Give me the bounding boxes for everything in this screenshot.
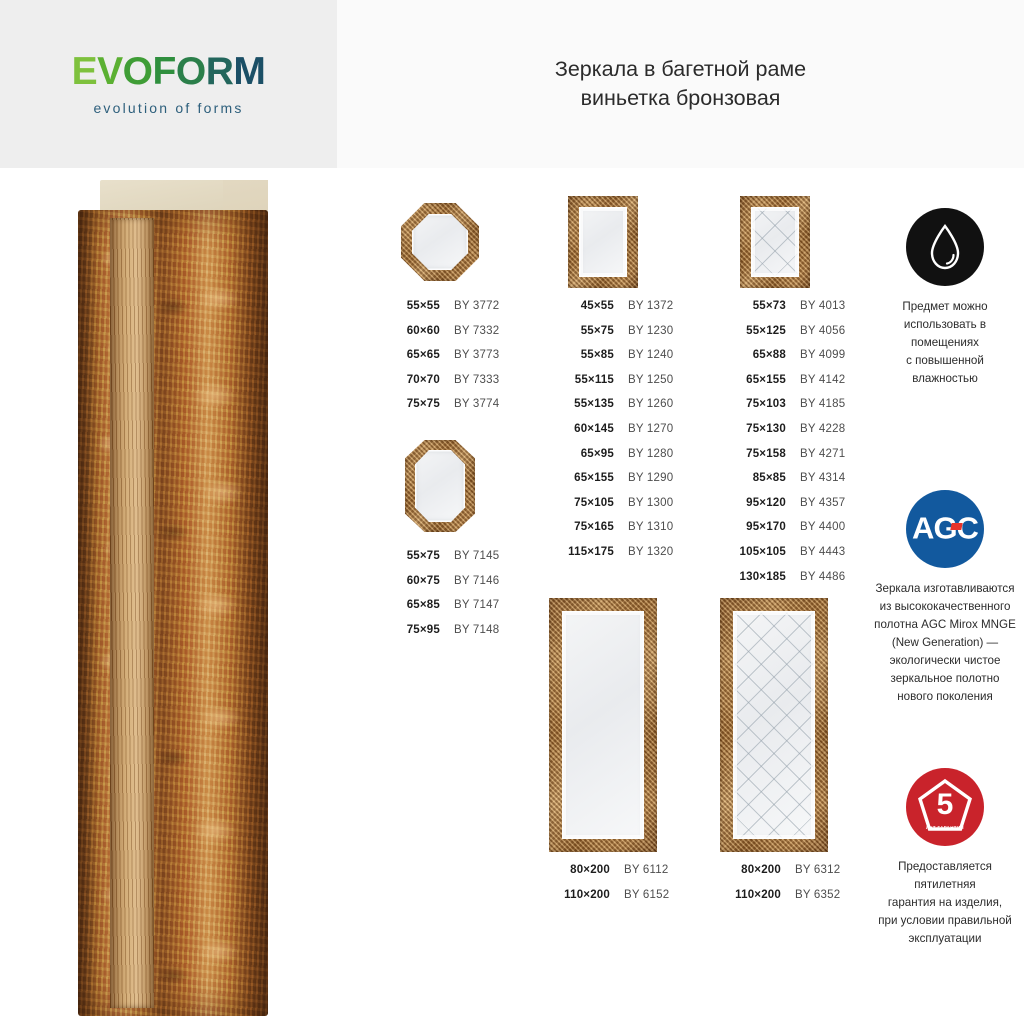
- size-row: 65×65BY 3773: [386, 349, 499, 374]
- size-code: BY 6112: [624, 864, 668, 876]
- size-code: BY 4142: [800, 374, 845, 386]
- size-dim: 65×95: [552, 448, 614, 460]
- size-row: 70×70BY 7333: [386, 374, 499, 399]
- glass-bevel: [751, 207, 799, 277]
- size-code: BY 1270: [628, 423, 673, 435]
- size-code: BY 7332: [454, 325, 499, 337]
- size-row: 65×85BY 7147: [386, 599, 499, 624]
- mirror-thumb-floor-plain: [549, 598, 657, 852]
- mirror-glass: [579, 207, 627, 277]
- water-drop-icon: [906, 208, 984, 286]
- size-dim: 75×95: [386, 624, 440, 636]
- size-row: 55×135BY 1260: [552, 398, 673, 423]
- size-dim: 55×73: [720, 300, 786, 312]
- agc-logo-icon: AGC: [906, 490, 984, 568]
- size-list-octagon-vertical: 55×75BY 7145 60×75BY 7146 65×85BY 7147 7…: [386, 550, 499, 648]
- size-code: BY 4099: [800, 349, 845, 361]
- mirror-thumb-floor-facet: [720, 598, 828, 852]
- mirror-glass-faceted: [733, 611, 815, 839]
- size-row: 75×103BY 4185: [720, 398, 845, 423]
- size-row: 65×88BY 4099: [720, 349, 845, 374]
- size-code: BY 1310: [628, 521, 673, 533]
- size-row: 95×170BY 4400: [720, 521, 845, 546]
- mirror-thumb-rect-facet: [740, 196, 810, 288]
- size-dim: 85×85: [720, 472, 786, 484]
- size-row: 115×175BY 1320: [552, 546, 673, 571]
- size-dim: 65×85: [386, 599, 440, 611]
- catalog-page: EVOFORM evolution of forms Зеркала в баг…: [0, 0, 1024, 1024]
- size-dim: 65×88: [720, 349, 786, 361]
- feature-agc-glass: AGC Зеркала изготавливаются из высококач…: [866, 490, 1024, 706]
- size-row: 55×55BY 3772: [386, 300, 499, 325]
- size-dim: 80×200: [719, 864, 781, 876]
- size-code: BY 4314: [800, 472, 845, 484]
- size-row: 75×95BY 7148: [386, 624, 499, 649]
- size-row: 75×158BY 4271: [720, 448, 845, 473]
- size-code: BY 7145: [454, 550, 499, 562]
- size-dim: 55×55: [386, 300, 440, 312]
- size-row: 65×155BY 1290: [552, 472, 673, 497]
- size-dim: 95×170: [720, 521, 786, 533]
- size-row: 110×200BY 6352: [719, 889, 840, 914]
- size-row: 95×120BY 4357: [720, 497, 845, 522]
- size-dim: 60×145: [552, 423, 614, 435]
- title-panel: Зеркала в багетной раме виньетка бронзов…: [337, 0, 1024, 168]
- mirror-glass: [415, 450, 465, 522]
- size-dim: 80×200: [548, 864, 610, 876]
- size-code: BY 7146: [454, 575, 499, 587]
- size-code: BY 4357: [800, 497, 845, 509]
- feature-agc-text: Зеркала изготавливаются из высококачеств…: [866, 580, 1024, 706]
- size-code: BY 1300: [628, 497, 673, 509]
- size-code: BY 1320: [628, 546, 673, 558]
- size-dim: 65×65: [386, 349, 440, 361]
- size-list-floor-plain: 80×200BY 6112 110×200BY 6152: [548, 864, 669, 913]
- feature-humidity-text: Предмет можно использовать в помещениях …: [866, 298, 1024, 388]
- page-title-line1: Зеркала в багетной раме: [555, 55, 806, 84]
- size-list-rect-plain: 45×55BY 1372 55×75BY 1230 55×85BY 1240 5…: [552, 300, 673, 571]
- size-dim: 75×165: [552, 521, 614, 533]
- feature-warranty: 5 ЛЕТ ГАРАНТИИ Предоставляется пятилетня…: [866, 768, 1024, 948]
- size-row: 110×200BY 6152: [548, 889, 669, 914]
- size-list-octagon-square: 55×55BY 3772 60×60BY 7332 65×65BY 3773 7…: [386, 300, 499, 423]
- size-code: BY 1372: [628, 300, 673, 312]
- size-dim: 110×200: [548, 889, 610, 901]
- size-row: 55×115BY 1250: [552, 374, 673, 399]
- size-code: BY 1230: [628, 325, 673, 337]
- size-code: BY 1240: [628, 349, 673, 361]
- moulding-flat-band: [110, 218, 154, 1008]
- size-dim: 110×200: [719, 889, 781, 901]
- size-dim: 55×85: [552, 349, 614, 361]
- size-dim: 75×158: [720, 448, 786, 460]
- size-code: BY 4443: [800, 546, 845, 558]
- size-row: 65×95BY 1280: [552, 448, 673, 473]
- page-title-line2: виньетка бронзовая: [581, 84, 781, 113]
- size-code: BY 3774: [454, 398, 499, 410]
- water-drop-glyph: [928, 224, 962, 270]
- frame-moulding-photo: [78, 180, 268, 1016]
- size-row: 55×85BY 1240: [552, 349, 673, 374]
- size-dim: 55×135: [552, 398, 614, 410]
- mirror-thumb-rect-plain: [568, 196, 638, 288]
- size-code: BY 1280: [628, 448, 673, 460]
- size-dim: 95×120: [720, 497, 786, 509]
- size-row: 60×60BY 7332: [386, 325, 499, 350]
- size-row: 60×145BY 1270: [552, 423, 673, 448]
- mirror-glass-faceted: [751, 207, 799, 277]
- size-code: BY 6352: [795, 889, 840, 901]
- size-code: BY 1260: [628, 398, 673, 410]
- warranty-5-years-icon: 5 ЛЕТ ГАРАНТИИ: [906, 768, 984, 846]
- brand-panel: EVOFORM evolution of forms: [0, 0, 337, 168]
- size-dim: 65×155: [552, 472, 614, 484]
- size-code: BY 4013: [800, 300, 845, 312]
- mirror-glass: [562, 611, 644, 839]
- moulding-profile: [78, 210, 268, 1016]
- warranty-sublabel: ЛЕТ ГАРАНТИИ: [926, 825, 964, 830]
- size-code: BY 4056: [800, 325, 845, 337]
- feature-humidity: Предмет можно использовать в помещениях …: [866, 208, 1024, 388]
- size-code: BY 4486: [800, 571, 845, 583]
- size-dim: 75×103: [720, 398, 786, 410]
- size-row: 80×200BY 6112: [548, 864, 669, 889]
- size-dim: 45×55: [552, 300, 614, 312]
- size-list-floor-facet: 80×200BY 6312 110×200BY 6352: [719, 864, 840, 913]
- mirror-thumb-octagon-vertical: [405, 440, 475, 532]
- size-row: 60×75BY 7146: [386, 575, 499, 600]
- size-row: 75×165BY 1310: [552, 521, 673, 546]
- size-dim: 55×125: [720, 325, 786, 337]
- feature-warranty-text: Предоставляется пятилетняя гарантия на и…: [866, 858, 1024, 948]
- size-code: BY 4228: [800, 423, 845, 435]
- size-dim: 75×105: [552, 497, 614, 509]
- glass-bevel: [733, 611, 815, 839]
- size-dim: 55×75: [552, 325, 614, 337]
- size-dim: 60×60: [386, 325, 440, 337]
- size-dim: 55×75: [386, 550, 440, 562]
- size-dim: 115×175: [552, 546, 614, 558]
- size-code: BY 6152: [624, 889, 669, 901]
- agc-logo-text: AGC: [912, 510, 978, 546]
- size-code: BY 3773: [454, 349, 499, 361]
- evoform-logo: EVOFORM: [72, 52, 266, 91]
- size-dim: 105×105: [720, 546, 786, 558]
- size-dim: 75×130: [720, 423, 786, 435]
- size-code: BY 4400: [800, 521, 845, 533]
- size-row: 55×73BY 4013: [720, 300, 845, 325]
- size-row: 75×75BY 3774: [386, 398, 499, 423]
- size-dim: 70×70: [386, 374, 440, 386]
- size-code: BY 1250: [628, 374, 673, 386]
- size-row: 75×105BY 1300: [552, 497, 673, 522]
- size-row: 85×85BY 4314: [720, 472, 845, 497]
- size-dim: 130×185: [720, 571, 786, 583]
- size-list-rect-facet: 55×73BY 4013 55×125BY 4056 65×88BY 4099 …: [720, 300, 845, 595]
- size-row: 45×55BY 1372: [552, 300, 673, 325]
- glass-bevel: [579, 207, 627, 277]
- size-code: BY 6312: [795, 864, 840, 876]
- size-dim: 55×115: [552, 374, 614, 386]
- size-dim: 75×75: [386, 398, 440, 410]
- size-row: 55×125BY 4056: [720, 325, 845, 350]
- size-code: BY 4271: [800, 448, 845, 460]
- size-row: 75×130BY 4228: [720, 423, 845, 448]
- size-dim: 65×155: [720, 374, 786, 386]
- size-code: BY 7148: [454, 624, 499, 636]
- page-header: EVOFORM evolution of forms Зеркала в баг…: [0, 0, 1024, 168]
- size-row: 80×200BY 6312: [719, 864, 840, 889]
- size-code: BY 7147: [454, 599, 499, 611]
- logo-tagline: evolution of forms: [93, 100, 243, 116]
- size-row: 105×105BY 4443: [720, 546, 845, 571]
- size-code: BY 4185: [800, 398, 845, 410]
- size-row: 55×75BY 1230: [552, 325, 673, 350]
- warranty-number: 5: [937, 788, 954, 822]
- agc-red-accent: [950, 523, 962, 530]
- size-row: 130×185BY 4486: [720, 571, 845, 596]
- size-code: BY 7333: [454, 374, 499, 386]
- size-row: 65×155BY 4142: [720, 374, 845, 399]
- size-dim: 60×75: [386, 575, 440, 587]
- size-code: BY 3772: [454, 300, 499, 312]
- size-row: 55×75BY 7145: [386, 550, 499, 575]
- glass-bevel: [562, 611, 644, 839]
- size-code: BY 1290: [628, 472, 673, 484]
- mirror-thumb-octagon-square: [401, 203, 479, 281]
